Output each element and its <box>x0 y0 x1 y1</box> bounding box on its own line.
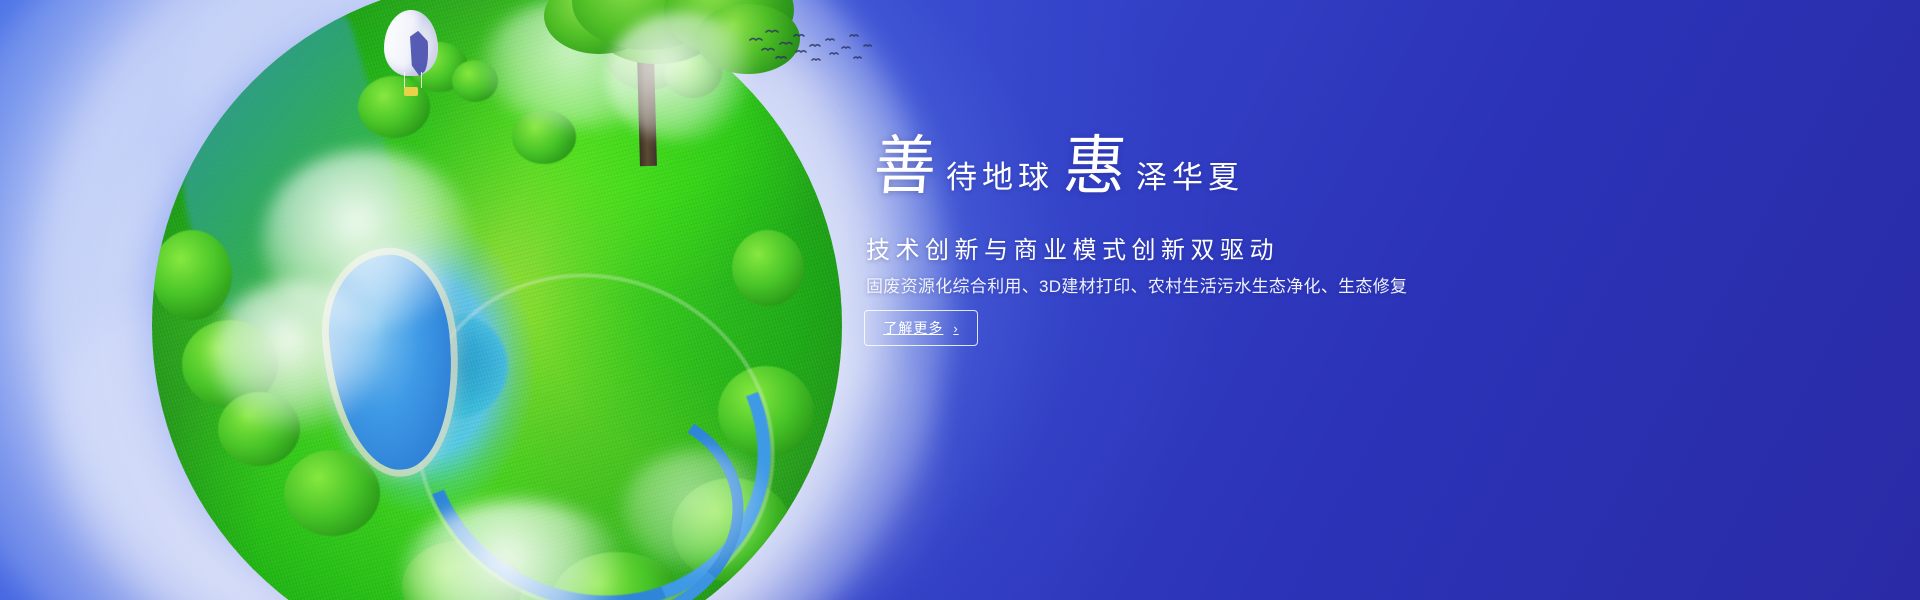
headline-lead-char-1: 善 <box>872 135 949 199</box>
description: 固废资源化综合利用、3D建材打印、农村生活污水生态净化、生态修复 <box>866 272 1407 297</box>
headline-rest-2: 泽华夏 <box>1136 162 1244 198</box>
headline-phrase-2: 惠 泽华夏 <box>1064 136 1244 198</box>
headline-phrase-1: 善 待地球 <box>874 136 1054 198</box>
headline-lead-char-2: 惠 <box>1062 135 1139 199</box>
banner-copy: 善 待地球 惠 泽华夏 技术创新与商业模式创新双驱动 固废资源化综合利用、3D建… <box>858 0 1578 600</box>
hero-banner: 善 待地球 惠 泽华夏 技术创新与商业模式创新双驱动 固废资源化综合利用、3D建… <box>0 0 1920 600</box>
learn-more-label: 了解更多 <box>883 321 943 335</box>
subtitle: 技术创新与商业模式创新双驱动 <box>866 230 1279 265</box>
headline-rest-1: 待地球 <box>946 162 1054 198</box>
headline: 善 待地球 惠 泽华夏 <box>866 136 1566 222</box>
chevron-right-icon: › <box>953 322 958 335</box>
learn-more-button[interactable]: 了解更多 › <box>864 310 978 346</box>
